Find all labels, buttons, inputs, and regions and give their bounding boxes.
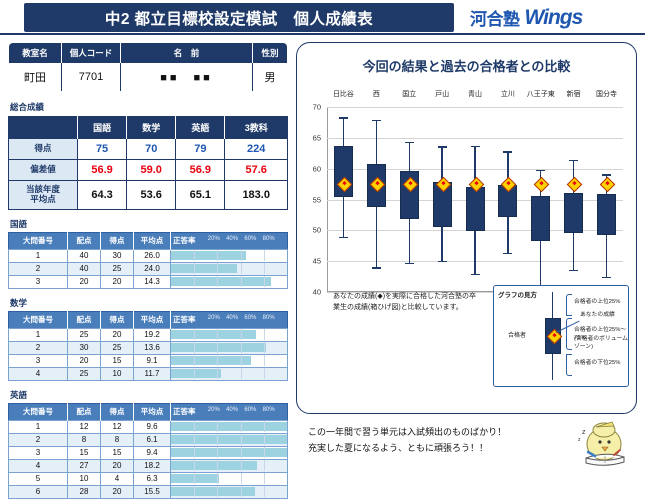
cell-correct-rate	[171, 446, 288, 459]
bar-gridline	[194, 486, 195, 497]
left-column: 教室名 個人コード 名 前 性別 町田 7701 ■■ ■■ 男 総合成績 国語…	[8, 42, 288, 499]
boxplot-box	[597, 194, 616, 235]
bar-gridline	[241, 329, 242, 340]
table-header-row: 大問番号配点得点平均点正答率20%40%60%80%	[9, 232, 288, 249]
bar-track	[171, 421, 287, 432]
rate-tick: 20%	[208, 236, 220, 242]
subject-detail-table: 大問番号配点得点平均点正答率20%40%60%80%1403026.024025…	[8, 232, 288, 289]
boxplot-cap-min	[405, 263, 414, 264]
cell-correct-rate	[171, 459, 288, 472]
cell-allotment: 15	[68, 446, 101, 459]
chart-school-label: 西	[373, 89, 380, 99]
cell-allotment: 30	[68, 341, 101, 354]
cell-average: 9.6	[134, 420, 171, 433]
col-score: 得点	[101, 311, 134, 328]
boxplot-cap-max	[339, 117, 348, 118]
correct-rate-bar	[171, 277, 271, 286]
chart-note-text: あなたの成績(◆)を実際に合格した河合塾の卒業生の成績(箱ひげ図)と比較していま…	[333, 293, 476, 311]
cell-correct-rate	[171, 472, 288, 485]
cell-score: 4	[101, 472, 134, 485]
correct-rate-bar	[171, 461, 257, 470]
chart-legend: グラフの見方 合格者 合格者の上位25% あなたの成績 合格者の上位25%～75…	[493, 285, 629, 387]
correct-rate-bar	[171, 487, 255, 496]
cell-score: 15	[101, 446, 134, 459]
bar-gridline	[241, 486, 242, 497]
boxplot-cap-max	[602, 174, 611, 175]
bar-track	[171, 329, 287, 340]
cell-question-no: 1	[9, 249, 68, 262]
table-row: 3202014.3	[9, 275, 288, 288]
cell-question-no: 3	[9, 354, 68, 367]
legend-bracket-bottom	[566, 354, 572, 376]
cell-score: 20	[101, 459, 134, 472]
chart-school-label: 青山	[468, 89, 482, 99]
cell-average: 13.6	[134, 341, 171, 354]
cell-average: 6.3	[134, 472, 171, 485]
cell-correct-rate	[171, 354, 288, 367]
cell-allotment: 27	[68, 459, 101, 472]
cell-score: 15	[101, 354, 134, 367]
summary-col-kokugo: 国語	[78, 117, 127, 139]
cell-average: 9.1	[134, 354, 171, 367]
table-header-row: 大問番号配点得点平均点正答率20%40%60%80%	[9, 311, 288, 328]
cell-allotment: 12	[68, 420, 101, 433]
chart-note: あなたの成績(◆)を実際に合格した河合塾の卒業生の成績(箱ひげ図)と比較していま…	[333, 291, 483, 313]
bar-gridline	[264, 276, 265, 287]
correct-rate-bar	[171, 356, 251, 365]
boxplot-cap-min	[471, 274, 480, 275]
cell-allotment: 20	[68, 275, 101, 288]
correct-rate-bar	[171, 330, 256, 339]
subject-block-国語: 国語大問番号配点得点平均点正答率20%40%60%80%1403026.0240…	[8, 218, 288, 289]
value-classroom: 町田	[9, 63, 62, 92]
student-score-marker	[567, 177, 583, 193]
bar-track	[171, 355, 287, 366]
table-row: 1252019.2	[9, 328, 288, 341]
boxplot-cap-max	[569, 160, 578, 161]
bar-gridline	[241, 460, 242, 471]
rate-tick: 20%	[208, 407, 220, 413]
brand-logo: 河合塾 Wings	[470, 4, 640, 31]
col-correct-rate: 正答率20%40%60%80%	[171, 311, 288, 328]
cell-correct-rate	[171, 420, 288, 433]
cell-allotment: 28	[68, 485, 101, 498]
bar-gridline	[217, 342, 218, 353]
score-sugaku: 70	[127, 139, 176, 160]
chick-mascot-icon: z z	[560, 420, 640, 468]
legend-boxplot-figure	[542, 292, 564, 380]
bar-gridline	[264, 342, 265, 353]
chart-school-label: 八王子東	[527, 89, 555, 99]
chart-y-tick-label: 45	[313, 257, 321, 266]
cell-score: 10	[101, 367, 134, 380]
col-question-no: 大問番号	[9, 403, 68, 420]
bar-track	[171, 447, 287, 458]
boxplot-cap-min	[438, 261, 447, 262]
rate-tick: 60%	[244, 315, 256, 321]
boxplot-cap-max	[438, 146, 447, 147]
bar-track	[171, 434, 287, 445]
footer-line-2: 充実した夏になるよう、ともに頑張ろう！！	[308, 441, 506, 457]
correct-rate-bar	[171, 264, 237, 273]
deviation-sugaku: 59.0	[127, 160, 176, 181]
cell-average: 19.2	[134, 328, 171, 341]
student-score-marker	[600, 177, 616, 193]
boxplot-cap-min	[372, 267, 381, 268]
boxplot-cap-min	[602, 277, 611, 278]
bar-gridline	[217, 421, 218, 432]
table-row: 320159.1	[9, 354, 288, 367]
rate-tick: 40%	[226, 315, 238, 321]
header-divider	[0, 33, 645, 35]
summary-section-label: 総合成績	[10, 101, 288, 113]
col-score: 得点	[101, 403, 134, 420]
cell-average: 24.0	[134, 262, 171, 275]
value-name: ■■ ■■	[121, 63, 253, 92]
rate-tick: 80%	[263, 236, 275, 242]
summary-corner-cell	[9, 117, 78, 139]
bar-gridline	[194, 460, 195, 471]
summary-col-total: 3教科	[225, 117, 288, 139]
cell-average: 15.5	[134, 485, 171, 498]
subject-title: 国語	[10, 218, 288, 230]
bar-gridline	[264, 460, 265, 471]
boxplot-cap-max	[503, 151, 512, 152]
score-kokugo: 75	[78, 139, 127, 160]
boxplot-cap-max	[405, 142, 414, 143]
bar-gridline	[194, 447, 195, 458]
boxplot-cap-max	[471, 146, 480, 147]
summary-col-sugaku: 数学	[127, 117, 176, 139]
bar-track	[171, 276, 287, 287]
cell-average: 14.3	[134, 275, 171, 288]
bar-gridline	[217, 276, 218, 287]
subject-title: 英語	[10, 389, 288, 401]
col-allotment: 配点	[68, 232, 101, 249]
col-average: 平均点	[134, 311, 171, 328]
col-gender: 性別	[253, 43, 288, 64]
cell-correct-rate	[171, 328, 288, 341]
table-header-row: 教室名 個人コード 名 前 性別	[9, 43, 288, 64]
footer-text-block: この一年間で習う単元は入試頻出のものばかり！ 充実した夏になるよう、ともに頑張ろ…	[308, 425, 506, 457]
rate-tick: 80%	[263, 315, 275, 321]
cell-question-no: 1	[9, 328, 68, 341]
table-row: 2302513.6	[9, 341, 288, 354]
table-header-row: 大問番号配点得点平均点正答率20%40%60%80%	[9, 403, 288, 420]
bar-track	[171, 250, 287, 261]
chart-y-tick-label: 70	[313, 103, 321, 112]
cell-score: 8	[101, 433, 134, 446]
table-row: 112129.6	[9, 420, 288, 433]
cell-allotment: 8	[68, 433, 101, 446]
bar-gridline	[241, 250, 242, 261]
chart-school-label: 日比谷	[333, 89, 354, 99]
col-average: 平均点	[134, 232, 171, 249]
cell-score: 25	[101, 341, 134, 354]
legend-text-top25: 合格者の上位25%	[574, 299, 628, 307]
cell-average: 18.2	[134, 459, 171, 472]
bar-gridline	[217, 447, 218, 458]
cell-question-no: 6	[9, 485, 68, 498]
bar-gridline	[194, 250, 195, 261]
boxplot-cap-min	[339, 237, 348, 238]
chart-school-label: 立川	[501, 89, 515, 99]
bar-gridline	[264, 473, 265, 484]
score-total: 224	[225, 139, 288, 160]
page-title: 中2 都立目標校設定模試 個人成績表	[105, 7, 373, 29]
chart-y-tick-label: 65	[313, 133, 321, 142]
subject-block-数学: 数学大問番号配点得点平均点正答率20%40%60%80%1252019.2230…	[8, 297, 288, 381]
correct-rate-bar	[171, 435, 287, 444]
legend-text-volume-zone-2: (合格者のボリュームゾーン)	[574, 336, 630, 352]
row-label-deviation: 偏差値	[9, 160, 78, 181]
bar-gridline	[194, 473, 195, 484]
bar-gridline	[264, 447, 265, 458]
bar-gridline	[241, 342, 242, 353]
summary-scores-table: 国語 数学 英語 3教科 得点 75 70 79 224 偏差値 56.9 59…	[8, 116, 288, 210]
col-classroom: 教室名	[9, 43, 62, 64]
bar-gridline	[217, 460, 218, 471]
boxplot-box	[466, 187, 485, 231]
correct-rate-bar	[171, 251, 246, 260]
average-total: 183.0	[225, 181, 288, 210]
bar-gridline	[264, 355, 265, 366]
cell-allotment: 25	[68, 367, 101, 380]
col-correct-rate: 正答率20%40%60%80%	[171, 232, 288, 249]
cell-average: 9.4	[134, 446, 171, 459]
cell-question-no: 1	[9, 420, 68, 433]
col-allotment: 配点	[68, 403, 101, 420]
chart-y-axis: 40455055606570	[297, 107, 325, 292]
bar-track	[171, 263, 287, 274]
bar-gridline	[217, 329, 218, 340]
table-row: 1403026.0	[9, 249, 288, 262]
cell-question-no: 2	[9, 341, 68, 354]
bar-gridline	[217, 355, 218, 366]
bar-gridline	[194, 421, 195, 432]
rate-tick: 60%	[244, 407, 256, 413]
header-title-bar: 中2 都立目標校設定模試 個人成績表	[24, 3, 454, 32]
col-correct-rate: 正答率20%40%60%80%	[171, 403, 288, 420]
bar-gridline	[241, 447, 242, 458]
bar-gridline	[241, 368, 242, 379]
chart-school-label: 国分寺	[596, 89, 617, 99]
cell-allotment: 10	[68, 472, 101, 485]
logo-japanese-text: 河合塾	[470, 5, 520, 30]
bar-gridline	[217, 434, 218, 445]
chart-plot-area	[327, 107, 623, 292]
col-name: 名 前	[121, 43, 253, 64]
report-page: 中2 都立目標校設定模試 個人成績表 河合塾 Wings 教室名 個人コード 名…	[0, 0, 645, 470]
boxplot-cap-min	[569, 270, 578, 271]
cell-correct-rate	[171, 341, 288, 354]
rate-tick: 40%	[226, 236, 238, 242]
cell-question-no: 3	[9, 446, 68, 459]
bar-track	[171, 460, 287, 471]
col-question-no: 大問番号	[9, 232, 68, 249]
logo-english-text: Wings	[525, 6, 583, 30]
table-row: 町田 7701 ■■ ■■ 男	[9, 63, 288, 92]
chart-y-tick-label: 60	[313, 164, 321, 173]
boxplot-cap-max	[372, 120, 381, 121]
bar-track	[171, 342, 287, 353]
boxplot-cap-max	[536, 170, 545, 171]
bar-gridline	[264, 329, 265, 340]
table-row: 2886.1	[9, 433, 288, 446]
chart-title: 今回の結果と過去の合格者との比較	[297, 56, 636, 75]
row-label-average: 当該年度 平均点	[9, 181, 78, 210]
bar-gridline	[217, 263, 218, 274]
bar-track	[171, 473, 287, 484]
cell-average: 26.0	[134, 249, 171, 262]
correct-rate-bar	[171, 369, 221, 378]
cell-correct-rate	[171, 367, 288, 380]
chart-x-labels: 日比谷西国立戸山青山立川八王子東新宿国分寺	[327, 89, 623, 103]
chart-panel: 今回の結果と過去の合格者との比較 日比谷西国立戸山青山立川八王子東新宿国分寺 4…	[296, 42, 637, 414]
bar-track	[171, 486, 287, 497]
cell-question-no: 4	[9, 367, 68, 380]
chart-y-tick-label: 40	[313, 288, 321, 297]
col-question-no: 大問番号	[9, 311, 68, 328]
correct-rate-bar	[171, 448, 287, 457]
table-row: 315159.4	[9, 446, 288, 459]
bar-gridline	[194, 329, 195, 340]
table-row: 4272018.2	[9, 459, 288, 472]
bar-gridline	[241, 355, 242, 366]
bar-gridline	[264, 250, 265, 261]
footer-line-1: この一年間で習う単元は入試頻出のものばかり！	[308, 425, 506, 441]
table-row: 2402524.0	[9, 262, 288, 275]
cell-allotment: 40	[68, 262, 101, 275]
table-row-average: 当該年度 平均点 64.3 53.6 65.1 183.0	[9, 181, 288, 210]
subject-title: 数学	[10, 297, 288, 309]
col-allotment: 配点	[68, 311, 101, 328]
cell-question-no: 2	[9, 262, 68, 275]
bar-gridline	[194, 342, 195, 353]
cell-score: 20	[101, 485, 134, 498]
bar-gridline	[241, 421, 242, 432]
cell-correct-rate	[171, 275, 288, 288]
boxplot-cap-min	[503, 253, 512, 254]
bar-gridline	[241, 276, 242, 287]
bar-gridline	[217, 368, 218, 379]
student-score-marker	[534, 177, 550, 193]
svg-text:z: z	[578, 437, 581, 443]
table-row: 4251011.7	[9, 367, 288, 380]
summary-col-eigo: 英語	[176, 117, 225, 139]
table-row-deviation: 偏差値 56.9 59.0 56.9 57.6	[9, 160, 288, 181]
value-student-code: 7701	[62, 63, 121, 92]
cell-average: 6.1	[134, 433, 171, 446]
bar-gridline	[241, 473, 242, 484]
legend-bracket-top	[566, 294, 572, 316]
cell-correct-rate	[171, 249, 288, 262]
chart-y-tick-label: 50	[313, 226, 321, 235]
cell-score: 12	[101, 420, 134, 433]
rate-tick: 60%	[244, 236, 256, 242]
col-average: 平均点	[134, 403, 171, 420]
chart-gridline	[327, 107, 623, 108]
bar-gridline	[264, 263, 265, 274]
svg-text:z: z	[582, 429, 586, 436]
cell-correct-rate	[171, 262, 288, 275]
bar-gridline	[264, 486, 265, 497]
bar-track	[171, 368, 287, 379]
bar-gridline	[194, 263, 195, 274]
cell-allotment: 25	[68, 328, 101, 341]
cell-question-no: 3	[9, 275, 68, 288]
bar-gridline	[264, 421, 265, 432]
cell-correct-rate	[171, 485, 288, 498]
subject-block-英語: 英語大問番号配点得点平均点正答率20%40%60%80%112129.62886…	[8, 389, 288, 499]
chart-y-tick-label: 55	[313, 195, 321, 204]
row-label-average-line1: 当該年度	[26, 184, 60, 194]
bar-gridline	[264, 434, 265, 445]
deviation-total: 57.6	[225, 160, 288, 181]
student-info-table: 教室名 個人コード 名 前 性別 町田 7701 ■■ ■■ 男	[8, 42, 288, 92]
rate-tick: 20%	[208, 315, 220, 321]
chart-school-label: 戸山	[435, 89, 449, 99]
chart-gridline	[327, 138, 623, 139]
subject-tables-area: 国語大問番号配点得点平均点正答率20%40%60%80%1403026.0240…	[8, 218, 288, 499]
deviation-eigo: 56.9	[176, 160, 225, 181]
legend-label-passers: 合格者	[508, 330, 526, 339]
cell-score: 20	[101, 275, 134, 288]
bar-gridline	[194, 434, 195, 445]
page-header: 中2 都立目標校設定模試 個人成績表 河合塾 Wings	[0, 0, 645, 34]
footer-message: この一年間で習う単元は入試頻出のものばかり！ 充実した夏になるよう、ともに頑張ろ…	[302, 420, 642, 468]
chart-school-label: 新宿	[567, 89, 581, 99]
bar-gridline	[217, 250, 218, 261]
cell-score: 25	[101, 262, 134, 275]
col-score: 得点	[101, 232, 134, 249]
table-row: 6282015.5	[9, 485, 288, 498]
cell-correct-rate	[171, 433, 288, 446]
bar-gridline	[241, 434, 242, 445]
average-eigo: 65.1	[176, 181, 225, 210]
legend-bracket-mid	[566, 318, 572, 350]
score-eigo: 79	[176, 139, 225, 160]
bar-gridline	[194, 368, 195, 379]
value-gender: 男	[253, 63, 288, 92]
boxplot-box	[531, 196, 550, 242]
bar-gridline	[194, 276, 195, 287]
legend-text-bottom25: 合格者の下位25%	[574, 360, 628, 368]
bar-gridline	[264, 368, 265, 379]
bar-gridline	[217, 473, 218, 484]
cell-question-no: 5	[9, 472, 68, 485]
rate-tick: 40%	[226, 407, 238, 413]
row-label-average-line2: 平均点	[30, 194, 56, 204]
average-sugaku: 53.6	[127, 181, 176, 210]
cell-score: 20	[101, 328, 134, 341]
rate-tick: 80%	[263, 407, 275, 413]
cell-score: 30	[101, 249, 134, 262]
table-row-score: 得点 75 70 79 224	[9, 139, 288, 160]
row-label-score: 得点	[9, 139, 78, 160]
cell-question-no: 4	[9, 459, 68, 472]
subject-detail-table: 大問番号配点得点平均点正答率20%40%60%80%1252019.223025…	[8, 311, 288, 381]
average-kokugo: 64.3	[78, 181, 127, 210]
bar-gridline	[217, 486, 218, 497]
correct-rate-bar	[171, 422, 287, 431]
chart-school-label: 国立	[402, 89, 416, 99]
table-row: 51046.3	[9, 472, 288, 485]
cell-question-no: 2	[9, 433, 68, 446]
correct-rate-bar	[171, 343, 266, 352]
subject-detail-table: 大問番号配点得点平均点正答率20%40%60%80%112129.62886.1…	[8, 403, 288, 499]
legend-text-your-score: あなたの成績	[580, 312, 628, 320]
